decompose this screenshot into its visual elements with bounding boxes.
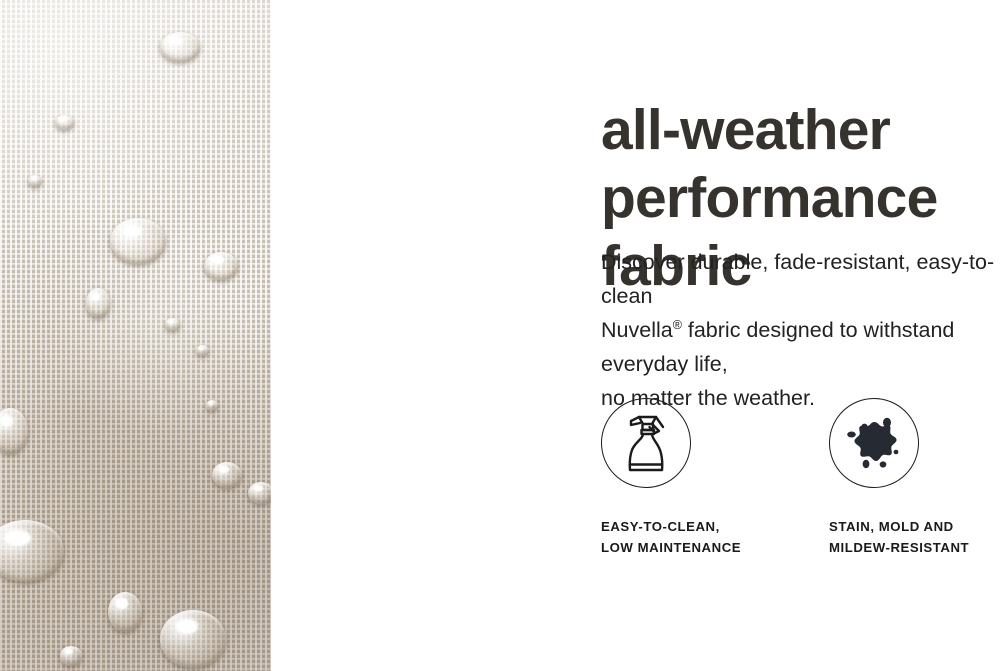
subcopy-paragraph: Discover durable, fade-resistant, easy-t… — [601, 245, 1005, 415]
water-droplet — [212, 462, 242, 488]
feature-item-stain-resistant: STAIN, MOLD AND MILDEW-RESISTANT — [829, 398, 1005, 558]
feature-list: EASY-TO-CLEAN, LOW MAINTENANCE STAIN, M — [601, 398, 1005, 558]
subcopy-line-1: Discover durable, fade-resistant, easy-t… — [601, 250, 994, 308]
water-droplet — [55, 115, 74, 130]
water-droplet — [60, 646, 82, 666]
registered-trademark-symbol: ® — [673, 318, 682, 332]
water-droplet — [248, 482, 271, 504]
water-droplet — [196, 345, 209, 356]
feature-caption: EASY-TO-CLEAN, LOW MAINTENANCE — [601, 516, 741, 558]
water-droplet — [160, 32, 200, 62]
stain-splat-icon — [829, 398, 919, 488]
water-droplet — [86, 288, 110, 318]
water-beading-on-fabric-photo — [0, 0, 271, 671]
water-droplet — [165, 318, 180, 331]
feature-caption: STAIN, MOLD AND MILDEW-RESISTANT — [829, 516, 969, 558]
water-droplet — [160, 610, 226, 668]
spray-bottle-icon — [601, 398, 691, 488]
feature-item-easy-to-clean: EASY-TO-CLEAN, LOW MAINTENANCE — [601, 398, 829, 558]
water-droplet — [108, 592, 142, 632]
water-droplet — [110, 218, 166, 264]
brand-name: Nuvella — [601, 318, 673, 342]
all-weather-fabric-banner: all-weather performance fabric Discover … — [0, 0, 1005, 671]
water-droplet — [206, 400, 218, 411]
water-droplet — [204, 252, 238, 280]
water-droplet — [28, 175, 42, 187]
content-panel: all-weather performance fabric Discover … — [271, 0, 1005, 671]
